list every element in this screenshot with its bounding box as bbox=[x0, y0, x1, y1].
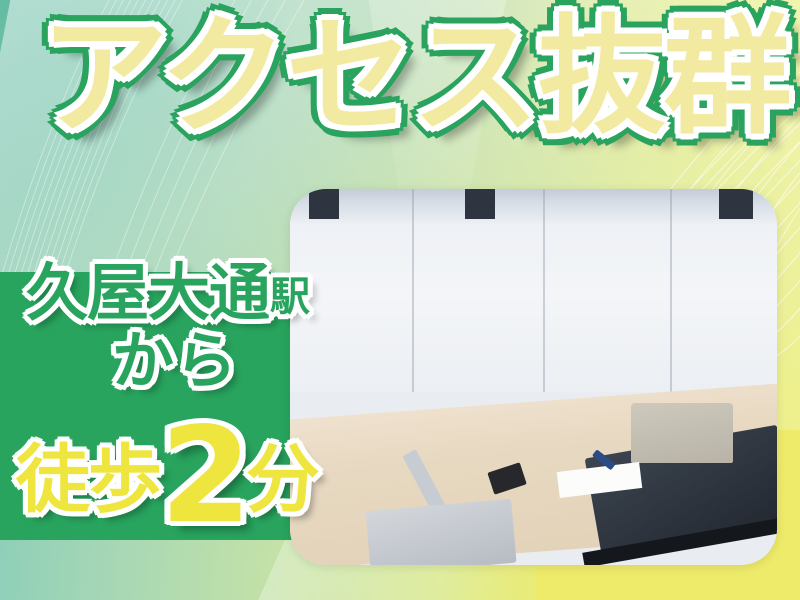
photo-wall-seam-2 bbox=[543, 189, 545, 392]
from-particle-text: から bbox=[112, 330, 238, 392]
photo-wall-panel-dark-3 bbox=[719, 189, 753, 219]
station-name-text: 久屋大通駅 bbox=[26, 262, 309, 324]
photo-wall-panel-dark-2 bbox=[465, 189, 494, 219]
laptop-front bbox=[365, 499, 516, 565]
walk-minutes-number: 2 bbox=[160, 399, 246, 553]
station-name: 久屋大通 bbox=[26, 256, 270, 329]
glasses-icon bbox=[290, 189, 294, 193]
minutes-unit-label: 分 bbox=[246, 437, 318, 523]
poster-canvas: アクセス抜群 久屋大通駅 から 徒歩2分 bbox=[0, 0, 800, 600]
page-title: アクセス抜群 bbox=[40, 14, 790, 142]
photo-wall-panel-dark-1 bbox=[309, 189, 338, 219]
walk-time-text: 徒歩2分 bbox=[16, 410, 318, 542]
walk-label: 徒歩 bbox=[16, 437, 160, 523]
station-suffix: 駅 bbox=[270, 274, 309, 320]
laptop-right bbox=[631, 403, 733, 463]
photo-wall-seam-1 bbox=[412, 189, 414, 392]
photo-wall bbox=[290, 189, 777, 392]
photo-wall-seam-3 bbox=[670, 189, 672, 392]
meeting-photo bbox=[290, 189, 777, 565]
